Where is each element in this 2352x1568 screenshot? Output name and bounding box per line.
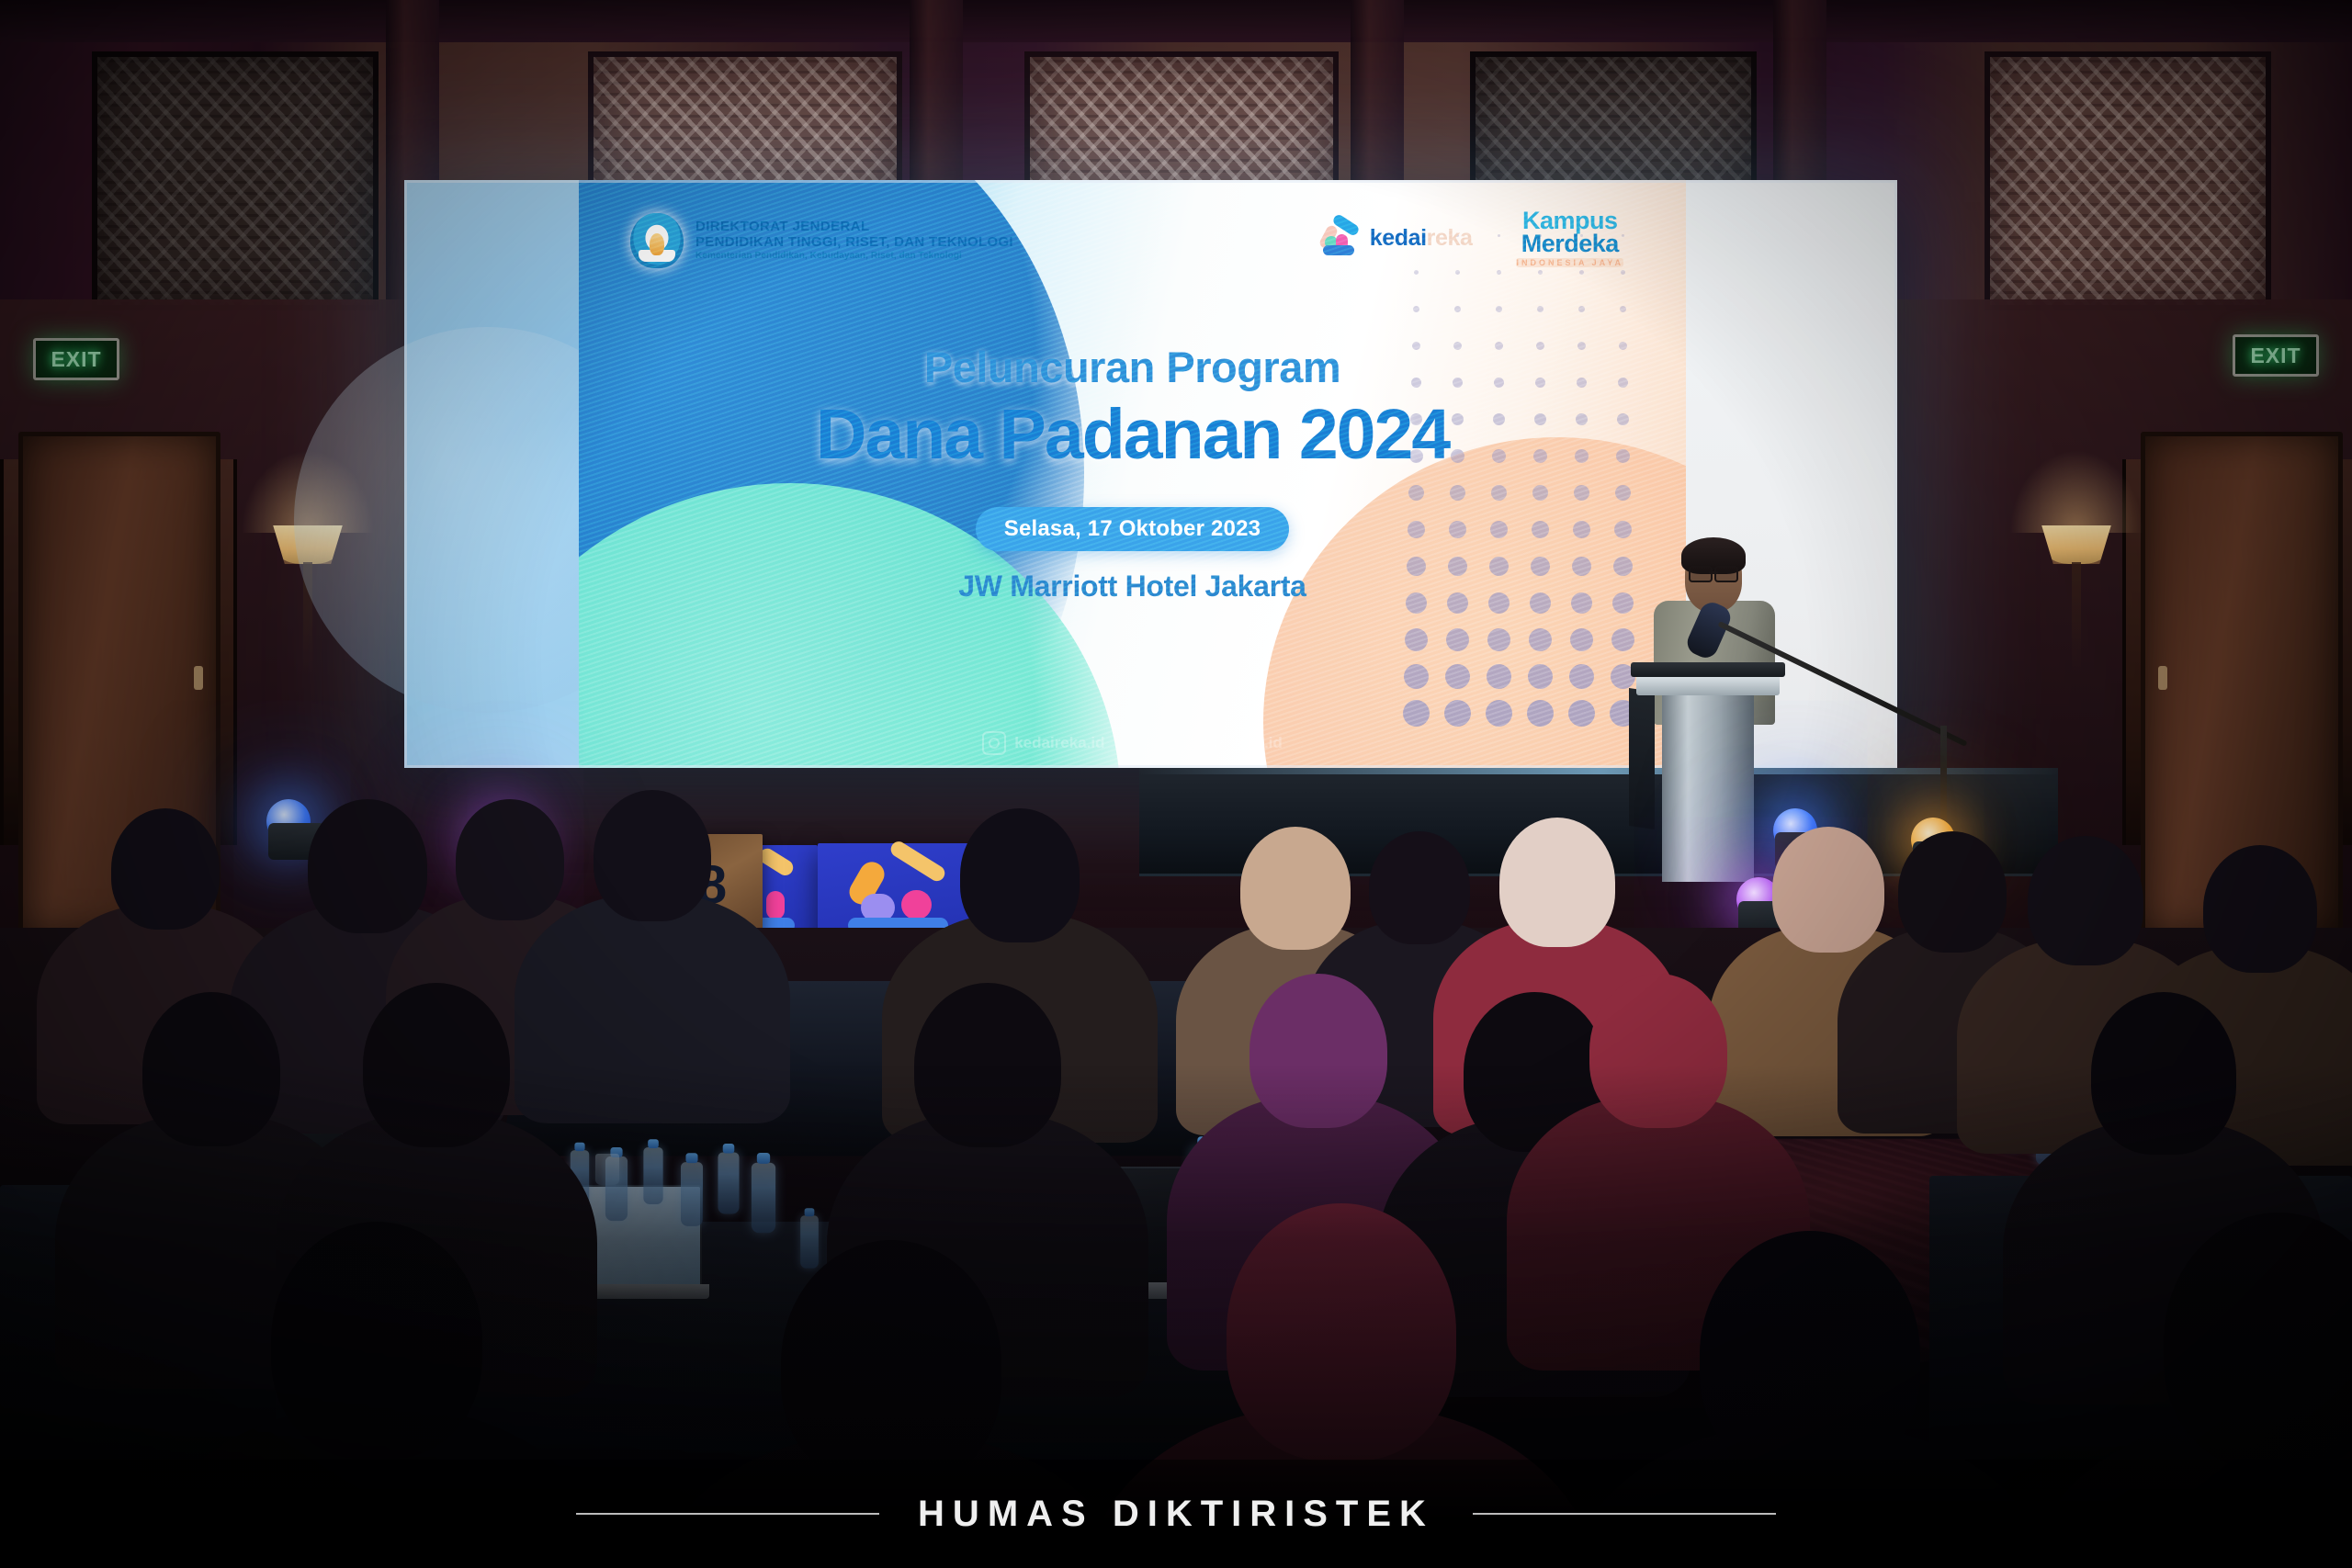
sconce-glow	[2009, 450, 2143, 533]
person-head	[2028, 836, 2143, 965]
slide-date-badge: Selasa, 17 Oktober 2023	[976, 507, 1289, 551]
water-bottle	[718, 1152, 739, 1213]
exit-sign-label: EXIT	[2250, 344, 2301, 368]
social-youtube: kedaireka.id	[1160, 731, 1283, 755]
lectern-reading-surface	[1631, 662, 1785, 677]
kedaireka-wordmark: kedaireka	[1370, 225, 1473, 252]
person-head	[111, 808, 220, 930]
kedaireka-mark-icon	[1321, 220, 1362, 256]
stage-edge-light	[1139, 768, 2058, 774]
kampus-merdeka-tagline: INDONESIA JAYA	[1516, 258, 1623, 267]
lectern-side	[1629, 688, 1655, 829]
person-head	[594, 790, 711, 921]
presentation-slide: DIREKTORAT JENDERAL PENDIDIKAN TINGGI, R…	[579, 180, 1686, 768]
water-bottle	[643, 1147, 662, 1204]
person-head	[960, 808, 1080, 942]
kampus-merdeka-line2: Merdeka	[1516, 232, 1623, 255]
youtube-icon	[1160, 731, 1184, 755]
partner-logos: kedaireka Kampus Merdeka INDONESIA JAYA	[1321, 209, 1623, 267]
ministry-logo-line3: Kementerian Pendidikan, Kebudayaan, Rise…	[695, 252, 1013, 262]
door-handle	[2158, 666, 2167, 690]
person-head	[2091, 992, 2236, 1155]
sconce-stem	[2072, 562, 2081, 672]
kedaireka-wordmark-part1: kedai	[1370, 225, 1427, 251]
water-bottle	[752, 1163, 775, 1234]
batik-wall-panel	[92, 51, 379, 310]
batik-wall-panel	[1984, 51, 2271, 310]
person-head	[781, 1240, 1001, 1487]
water-bottle	[681, 1162, 703, 1226]
kedaireka-wordmark-part2: reka	[1427, 225, 1473, 251]
sconce-shade	[2035, 525, 2118, 564]
person-head	[1589, 974, 1727, 1128]
person-head	[142, 992, 280, 1146]
person-head	[2164, 1213, 2352, 1470]
person-head	[914, 983, 1061, 1147]
slide-social-row: kedaireka.id kedaireka.id	[579, 731, 1686, 755]
slide-venue: JW Marriott Hotel Jakarta	[579, 570, 1686, 604]
eyeglasses-icon	[1689, 566, 1738, 579]
ministry-logo-line1: DIREKTORAT JENDERAL	[695, 220, 1013, 234]
footer-rule-left	[576, 1513, 879, 1515]
kampus-merdeka-logo: Kampus Merdeka INDONESIA JAYA	[1516, 209, 1623, 267]
ministry-logo-lockup: DIREKTORAT JENDERAL PENDIDIKAN TINGGI, R…	[630, 213, 1013, 268]
instagram-icon	[982, 731, 1006, 755]
footer-rule-right	[1473, 1513, 1776, 1515]
kedaireka-logo: kedaireka	[1321, 220, 1473, 256]
slide-title-main: Dana Padanan 2024	[579, 394, 1686, 476]
conference-photo: EXIT EXIT DI	[0, 0, 2352, 1568]
social-handle: kedaireka.id	[1193, 734, 1283, 752]
person-head	[1499, 818, 1615, 947]
person-head	[363, 983, 510, 1147]
person-head	[1249, 974, 1387, 1128]
person-head	[1700, 1231, 1920, 1478]
exit-sign-left: EXIT	[33, 338, 119, 380]
drinking-glass	[595, 1154, 619, 1185]
screen-left-margin	[404, 180, 579, 768]
person-head	[2203, 845, 2317, 973]
exit-sign-label: EXIT	[51, 347, 101, 372]
door-handle	[194, 666, 203, 690]
wall-cornice	[0, 0, 2352, 42]
person-head	[271, 1222, 482, 1459]
slide-title-block: Peluncuran Program Dana Padanan 2024 Sel…	[579, 342, 1686, 604]
person-head	[1227, 1203, 1456, 1461]
slide-logo-row: DIREKTORAT JENDERAL PENDIDIKAN TINGGI, R…	[579, 213, 1686, 272]
photo-footer: HUMAS DIKTIRISTEK	[0, 1460, 2352, 1568]
slide-title-small: Peluncuran Program	[579, 342, 1686, 392]
exit-sign-right: EXIT	[2233, 334, 2319, 377]
lectern-top	[1636, 675, 1780, 695]
social-handle: kedaireka.id	[1014, 734, 1104, 752]
ministry-logo-line2: PENDIDIKAN TINGGI, RISET, DAN TEKNOLOGI	[695, 235, 1013, 250]
social-instagram: kedaireka.id	[982, 731, 1104, 755]
wall-sconce-light	[2035, 514, 2118, 568]
footer-watermark: HUMAS DIKTIRISTEK	[918, 1494, 1434, 1535]
tut-wuri-handayani-icon	[630, 213, 684, 268]
